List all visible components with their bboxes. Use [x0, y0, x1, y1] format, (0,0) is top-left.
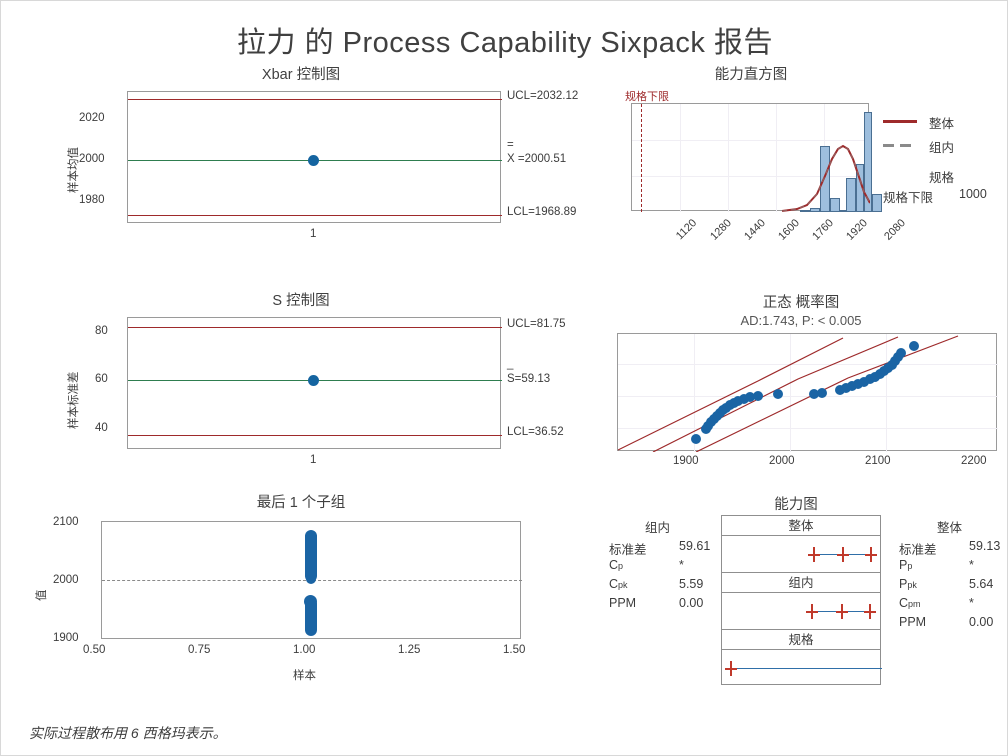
- within-row-value: 59.61: [679, 539, 710, 553]
- last-subgroup-y-tick: 2100: [53, 516, 79, 528]
- xbar-lcl-line: [128, 215, 502, 216]
- probability-plot-subtitle: AD:1.743, P: < 0.005: [651, 313, 951, 328]
- overall-row-value: 5.64: [969, 577, 993, 591]
- s-chart-title: S 控制图: [151, 289, 451, 310]
- histogram-plot-area: [631, 103, 869, 211]
- s-center-label: S=59.13: [507, 373, 550, 385]
- within-interval-tick: [864, 611, 876, 613]
- last-subgroup-x-axis-title: 样本: [293, 667, 316, 683]
- overall-row-value: *: [969, 558, 974, 572]
- last-subgroup-panel: 最后 1 个子组 值 2100 2000 1900 0.50 0.75 1.00…: [21, 491, 581, 706]
- capbox-interval-within: [722, 593, 880, 630]
- last-subgroup-y-tick: 2000: [53, 574, 79, 586]
- overall-row-label: Pp: [899, 558, 912, 572]
- overall-row-value: 0.00: [969, 615, 993, 629]
- histogram-x-ticks: 1120 1280 1440 1600 1760 1920 2080: [631, 213, 869, 253]
- s-y-tick: 40: [95, 422, 108, 434]
- xbar-y-tick: 1980: [79, 194, 105, 206]
- xbar-y-tick: 2020: [79, 112, 105, 124]
- xbar-plot-area: [127, 91, 501, 223]
- histogram-title: 能力直方图: [631, 63, 871, 84]
- xbar-chart-panel: Xbar 控制图 样本均值 2020 2000 1980 1 UCL=2032.…: [61, 63, 601, 253]
- capability-histogram-panel: 能力直方图 规格下限 1120 128: [611, 63, 1003, 263]
- overall-row-label: Ppk: [899, 577, 917, 591]
- s-y-tick: 80: [95, 325, 108, 337]
- within-heading: 组内: [645, 517, 670, 536]
- capability-interval-box: 整体 组内 规格: [721, 515, 881, 685]
- histogram-x-tick: 1120: [674, 217, 699, 242]
- overall-row-value: 59.13: [969, 539, 1000, 553]
- last-subgroup-x-tick: 0.75: [188, 644, 210, 656]
- s-center-bar: _: [507, 360, 513, 368]
- overall-interval-tick: [865, 554, 877, 556]
- histogram-legend: 整体 组内: [883, 111, 1003, 157]
- histogram-x-tick: 1440: [742, 217, 768, 243]
- overall-interval-tick: [837, 554, 849, 556]
- probability-plot-panel: 正态 概率图 AD:1.743, P: < 0.005: [611, 291, 1003, 481]
- legend-overall-swatch: [883, 120, 917, 123]
- xbar-center-label: X =2000.51: [507, 153, 566, 165]
- legend-within-swatch: [883, 144, 917, 147]
- capbox-heading-overall: 整体: [722, 516, 880, 536]
- histogram-overall-curve: [632, 104, 870, 212]
- probability-plot-area: [617, 333, 997, 451]
- probability-fit-lines: [618, 334, 998, 452]
- within-interval-tick: [806, 611, 818, 613]
- capbox-interval-overall: [722, 536, 880, 573]
- histogram-spec-row-label: 规格下限: [883, 187, 933, 206]
- within-row-label: PPM: [609, 596, 636, 610]
- probability-x-tick: 2200: [961, 455, 987, 467]
- spec-interval-line: [730, 668, 882, 669]
- s-y-tick: 60: [95, 373, 108, 385]
- overall-row-label: Cpm: [899, 596, 921, 610]
- xbar-data-point: [308, 155, 319, 166]
- within-interval-tick: [836, 611, 848, 613]
- page-title: 拉力 的 Process Capability Sixpack 报告: [1, 19, 1008, 61]
- histogram-x-tick: 1920: [844, 217, 870, 243]
- overall-heading: 整体: [937, 517, 962, 536]
- s-lcl-line: [128, 435, 502, 436]
- overall-row-label: PPM: [899, 615, 926, 629]
- xbar-y-tick: 2000: [79, 153, 105, 165]
- xbar-lcl-label: LCL=1968.89: [507, 206, 576, 218]
- histogram-x-tick: 1280: [708, 217, 734, 243]
- s-data-point: [308, 375, 319, 386]
- capbox-interval-spec: [722, 650, 880, 685]
- probability-x-tick: 1900: [673, 455, 699, 467]
- histogram-x-tick: 2080: [882, 217, 908, 243]
- last-subgroup-plot-area: [101, 521, 521, 639]
- last-subgroup-x-tick: 1.00: [293, 644, 315, 656]
- sixpack-report-page: 拉力 的 Process Capability Sixpack 报告 Xbar …: [0, 0, 1008, 756]
- histogram-x-tick: 1760: [810, 217, 836, 243]
- last-subgroup-title: 最后 1 个子组: [151, 491, 451, 512]
- xbar-ucl-label: UCL=2032.12: [507, 90, 578, 102]
- histogram-bar: [872, 194, 882, 212]
- xbar-ucl-line: [128, 99, 502, 100]
- s-ucl-label: UCL=81.75: [507, 318, 566, 330]
- report-footer-note: 实际过程散布用 6 西格玛表示。: [29, 723, 227, 743]
- last-subgroup-cluster-lower-head: [304, 595, 317, 608]
- histogram-spec-heading: 规格: [929, 167, 954, 186]
- within-row-label: Cp: [609, 558, 623, 572]
- s-plot-area: [127, 317, 501, 449]
- last-subgroup-x-tick: 1.50: [503, 644, 525, 656]
- histogram-x-tick: 1600: [776, 217, 802, 243]
- within-row-label: Cpk: [609, 577, 628, 591]
- within-row-value: 0.00: [679, 596, 703, 610]
- histogram-spec-row-value: 1000: [959, 187, 987, 201]
- last-subgroup-x-tick: 1.25: [398, 644, 420, 656]
- last-subgroup-x-tick: 0.50: [83, 644, 105, 656]
- legend-within-label: 组内: [929, 137, 954, 156]
- s-y-axis-label: 样本标准差: [65, 372, 81, 430]
- last-subgroup-y-label: 值: [33, 590, 49, 602]
- overall-row-label: 标准差: [899, 539, 937, 558]
- overall-interval-tick: [808, 554, 820, 556]
- s-ucl-line: [128, 327, 502, 328]
- s-lcl-label: LCL=36.52: [507, 426, 564, 438]
- s-chart-panel: S 控制图 样本标准差 80 60 40 1 UCL=81.75 _ S=59.…: [61, 289, 601, 479]
- capbox-heading-within: 组内: [722, 573, 880, 593]
- capability-plot-panel: 能力图 组内 标准差 59.61 Cp * Cpk 5.59 PPM 0.00 …: [591, 493, 1003, 698]
- within-row-label: 标准差: [609, 539, 647, 558]
- last-subgroup-y-tick: 1900: [53, 632, 79, 644]
- spec-interval-tick: [725, 668, 737, 670]
- legend-overall-label: 整体: [929, 113, 954, 132]
- probability-plot-title: 正态 概率图: [671, 291, 931, 312]
- xbar-center-bar: =: [507, 141, 514, 149]
- probability-x-tick: 2100: [865, 455, 891, 467]
- within-row-value: *: [679, 558, 684, 572]
- probability-x-tick: 2000: [769, 455, 795, 467]
- last-subgroup-cluster-upper-tail: [306, 570, 316, 584]
- overall-row-value: *: [969, 596, 974, 610]
- within-row-value: 5.59: [679, 577, 703, 591]
- capability-plot-title: 能力图: [721, 493, 871, 514]
- xbar-chart-title: Xbar 控制图: [151, 63, 451, 84]
- xbar-x-tick: 1: [310, 228, 316, 240]
- histogram-spec-line-label: 规格下限: [625, 88, 669, 104]
- s-x-tick: 1: [310, 454, 316, 466]
- capbox-heading-spec: 规格: [722, 630, 880, 650]
